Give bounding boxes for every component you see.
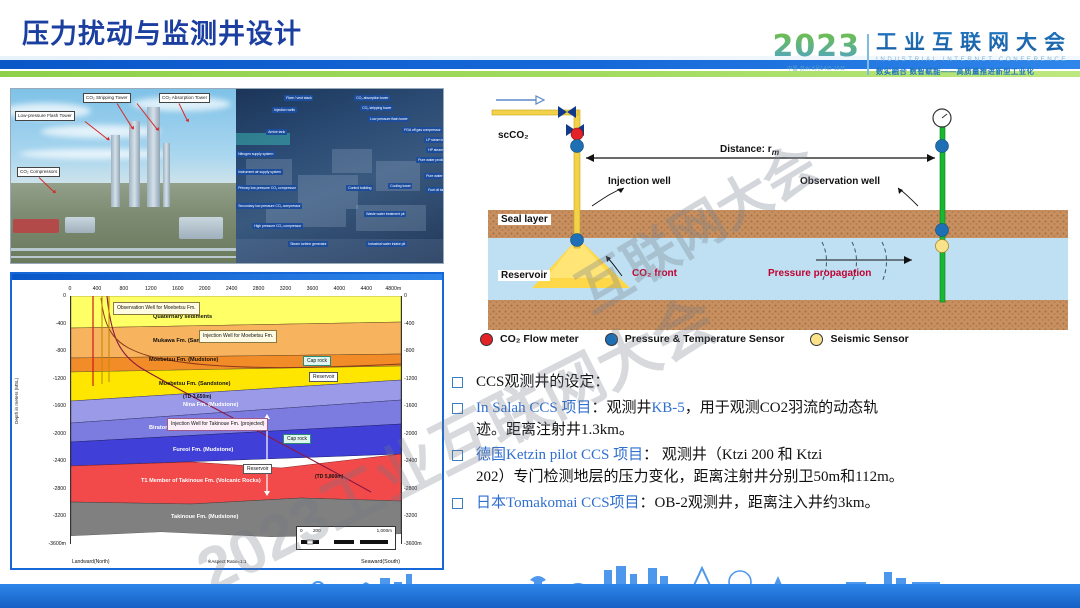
aerial-label-flash-tower: Low pressure flash tower [368, 116, 409, 122]
co2-injection-schematic: scCO₂ Distance: rm Injection well Observ… [480, 88, 1076, 350]
aerial-label-flare-stack: Flare / vent stack [284, 95, 313, 101]
logo-divider [867, 34, 869, 75]
geo-x-tick: 2000 [199, 286, 211, 292]
photo-label-flash-tower: Low-pressure Flash Tower [15, 111, 75, 121]
geo-x-tick: 3600 [307, 286, 319, 292]
aerial-label-cooling-tower: Cooling tower [388, 183, 412, 189]
schematic-label-injection-well: Injection well [608, 176, 671, 187]
geo-x-tick: 4800m [385, 286, 401, 292]
bullet-square-icon [452, 403, 463, 414]
geo-layer-label-nina: Nina Fm. (Mudstone) [183, 402, 238, 408]
logo-chinese-name: 工业互联网大会 [876, 32, 1072, 53]
schematic-svg [480, 88, 1076, 350]
geo-y-tick-right: -400 [404, 321, 438, 327]
geo-x-tick: 2400 [226, 286, 238, 292]
geo-y-tick: -2000 [34, 431, 66, 437]
geo-callout-observation-well: Observation Well for Moebetsu Fm. [113, 302, 200, 315]
geo-y-tick-right: -800 [404, 348, 438, 354]
geo-y-tick-right: -2800 [404, 486, 438, 492]
geo-y-tick: -400 [34, 321, 66, 327]
bullet-line: CCS观测井的设定： [476, 372, 609, 394]
geo-y-axis-label: Depth in meters (MSL) [14, 378, 19, 424]
bullet-segment: In Salah CCS 项目 [476, 400, 591, 416]
scalebar-mid: 200 [313, 528, 321, 533]
aerial-label-fuel-oil-tank: Fuel oil tank [426, 187, 443, 193]
distance-subscript: m [772, 147, 779, 157]
aerial-label-pure-water-tank: Pure water tank [424, 173, 443, 179]
geo-td-5800: (TD 5,800m) [315, 474, 343, 480]
geology-cross-section-chart: 0400800120016002000240028003200360040004… [10, 272, 444, 570]
geo-callout-injection-well-moebetsu: Injection Well for Moebetsu Fm. [199, 330, 277, 343]
geo-scalebar: 0 200 1,000m [296, 526, 396, 550]
schematic-label-seal-layer: Seal layer [498, 214, 551, 225]
geo-reservoir-upper: Reservoir [309, 372, 338, 382]
bullet-segment: ：观测井 [591, 400, 651, 416]
logo-year: 2023 [773, 32, 861, 62]
bullet-text: 日本Tomakomai CCS项目：OB-2观测井，距离注入井约3km。 [476, 493, 880, 515]
footer-skyline [0, 564, 1080, 608]
logo-year-subtitle: 中国·苏州 8月14日-15日 [787, 65, 845, 72]
bullet-segment: KB-5 [651, 400, 684, 416]
geo-y-tick-right: -1200 [404, 376, 438, 382]
aerial-label-fga-compressor: FGA off gas compressor [402, 127, 442, 133]
scalebar-ticks [298, 537, 394, 547]
slide-root: 压力扰动与监测井设计 2023 中国·苏州 8月14日-15日 工业互联网大会 … [0, 0, 1080, 608]
bullet-segment: CCS观测井的设定： [476, 374, 609, 390]
aerial-label-instrument-air: Instrument air supply system [236, 169, 282, 175]
geo-x-tick: 1600 [172, 286, 184, 292]
aerial-label-waste-water-pit: Waste water treatment pit [364, 211, 406, 217]
photo-label-compressors: CO₂ Compressors [17, 167, 60, 177]
geo-y-tick-right: -3600m [404, 541, 438, 547]
scalebar-start: 0 [300, 528, 303, 533]
geo-x-tick: 1200 [145, 286, 157, 292]
geo-y-tick: -3200 [34, 513, 66, 519]
bullet-list: CCS观测井的设定：In Salah CCS 项目：观测井KB-5，用于观测CO… [452, 372, 1072, 519]
aerial-label-lp-steam-boiler: LP steam boiler [424, 137, 443, 143]
schematic-label-distance: Distance: rm [720, 144, 779, 157]
aerial-label-steam-turbine: Steam turbine generator [288, 241, 328, 247]
geo-caprock-lower: Cap rock [283, 434, 311, 444]
geo-y-tick: -800 [34, 348, 66, 354]
geo-y-tick: 0 [34, 293, 66, 299]
logo-name-block: 工业互联网大会 INDUSTRIAL INTERNET CONFERENCE 数… [876, 32, 1072, 77]
geo-layer-label-takinoue: Takinoue Fm. (Mudstone) [171, 514, 238, 520]
geo-y-tick: -3600m [34, 541, 66, 547]
geo-y-tick: -1600 [34, 403, 66, 409]
bullet-square-icon [452, 498, 463, 509]
photo-label-stripping-tower: CO₂ Stripping Tower [83, 93, 131, 103]
geo-x-tick: 2800 [253, 286, 265, 292]
geo-x-tick: 4000 [334, 286, 346, 292]
legend-label-seismic-sensor: Seismic Sensor [830, 333, 908, 345]
geo-layer-label-moebetsu-sand: Moebetsu Fm. (Sandstone) [159, 381, 230, 387]
distance-text: Distance: r [720, 144, 772, 155]
bullet-item-tomakomai: 日本Tomakomai CCS项目：OB-2观测井，距离注入井约3km。 [452, 493, 1072, 515]
schematic-label-co2-front: CO₂ front [632, 268, 677, 279]
geo-layer-label-t1-volcanic: T1 Member of Takinoue Fm. (Volcanic Rock… [141, 478, 261, 484]
aerial-label-injection-wells: Injection wells [272, 107, 296, 113]
aerial-label-water-intake-pit: Industrial water intake pit [366, 241, 406, 247]
geo-plot-area: Quaternary sediments Mukawa Fm. (Sandsto… [70, 296, 402, 544]
legend-label-flow-meter: CO₂ Flow meter [500, 333, 579, 345]
geo-layer-label-fureoi: Fureoi Fm. (Mudstone) [173, 447, 233, 453]
schematic-label-scco2: scCO₂ [498, 130, 529, 141]
aerial-label-pure-water-prod: Pure water production system [416, 157, 443, 163]
schematic-legend: CO₂ Flow meter Pressure & Temperature Se… [480, 328, 1076, 350]
aerial-label-amine-tank: Amine tank [266, 129, 286, 135]
bullet-text: 德国Ketzin pilot CCS 项目： 观测井（Ktzi 200 和 Kt… [476, 445, 904, 489]
legend-dot-blue [605, 333, 618, 346]
bullet-square-icon [452, 450, 463, 461]
aerial-label-primary-lp-comp: Primary low pressure CO₂ compressor [236, 185, 297, 191]
geo-x-tick: 0 [69, 286, 72, 292]
geo-y-tick: -2800 [34, 486, 66, 492]
geo-y-tick-right: -3200 [404, 513, 438, 519]
legend-item-flow-meter: CO₂ Flow meter [480, 333, 579, 346]
geo-caprock-upper: Cap rock [303, 356, 331, 366]
geo-callout-injection-well-takinoue: Injection Well for Takinoue Fm. (project… [167, 418, 268, 431]
logo-tagline: 数实融合 数智赋能——高质量推进新型工业化 [876, 66, 1072, 77]
geo-top-rule [12, 274, 442, 280]
conference-logo: 2023 中国·苏州 8月14日-15日 工业互联网大会 INDUSTRIAL … [773, 32, 1073, 77]
aerial-label-absorption-tower: CO₂ absorption tower [354, 95, 390, 101]
geo-reservoir-lower: Reservoir [243, 464, 272, 474]
schematic-label-reservoir: Reservoir [498, 270, 550, 281]
bullet-segment: ：OB-2观测井，距离注入井约3km。 [640, 495, 880, 511]
aerial-label-stripping-tower: CO₂ stripping tower [360, 105, 392, 111]
bullet-segment: ，用于观测CO2羽流的动态轨 [685, 400, 878, 416]
geo-x-tick: 400 [93, 286, 102, 292]
geo-y-tick-right: -1600 [404, 403, 438, 409]
bullet-line: 202）专门检测地层的压力变化，距离注射井分别卫50m和112m。 [476, 467, 904, 489]
bullet-square-icon [452, 377, 463, 388]
aerial-label-secondary-lp-comp: Secondary low pressure CO₂ compressor [236, 203, 302, 209]
bullet-line: 日本Tomakomai CCS项目：OB-2观测井，距离注入井约3km。 [476, 493, 880, 515]
bullet-text: CCS观测井的设定： [476, 372, 609, 394]
geo-layer-label-moebetsu-mud: Moebetsu Fm. (Mudstone) [149, 357, 218, 363]
schematic-label-pressure-propagation: Pressure propagation [768, 268, 871, 279]
bullet-segment: 202）专门检测地层的压力变化，距离注射井分别卫50m和112m。 [476, 469, 904, 485]
legend-dot-red [480, 333, 493, 346]
page-title: 压力扰动与监测井设计 [22, 12, 302, 51]
bullet-item-in-salah: In Salah CCS 项目：观测井KB-5，用于观测CO2羽流的动态轨迹。距… [452, 398, 1072, 442]
legend-label-pt-sensor: Pressure & Temperature Sensor [625, 333, 785, 345]
geo-y-tick-right: 0 [404, 293, 438, 299]
bullet-segment: 德国Ketzin pilot CCS 项目 [476, 447, 643, 463]
geo-y-tick-right: -2000 [404, 431, 438, 437]
bullet-item-ccs-setting: CCS观测井的设定： [452, 372, 1072, 394]
geo-x-tick: 3200 [280, 286, 292, 292]
legend-item-pt-sensor: Pressure & Temperature Sensor [605, 333, 785, 346]
bullet-item-ketzin: 德国Ketzin pilot CCS 项目： 观测井（Ktzi 200 和 Kt… [452, 445, 1072, 489]
legend-item-seismic-sensor: Seismic Sensor [810, 333, 908, 346]
bullet-segment: 迹。距离注射井1.3km。 [476, 422, 634, 438]
bullet-line: 德国Ketzin pilot CCS 项目： 观测井（Ktzi 200 和 Kt… [476, 445, 904, 467]
plant-photo: CO₂ Stripping Tower CO₂ Absorption Tower… [11, 89, 236, 263]
geo-td-3650: (TD 3,650m) [183, 394, 211, 400]
aerial-label-hp-compressor: High pressure CO₂ compressor [252, 223, 302, 229]
geo-layer-label-quaternary: Quaternary sediments [153, 314, 212, 320]
schematic-label-observation-well: Observation well [800, 176, 880, 187]
aerial-photo: Flare / vent stack CO₂ absorption tower … [236, 89, 443, 263]
logo-year-block: 2023 中国·苏州 8月14日-15日 [773, 32, 868, 72]
logo-english-name: INDUSTRIAL INTERNET CONFERENCE [876, 56, 1072, 63]
scalebar-end: 1,000m [377, 528, 392, 533]
geo-y-tick: -2400 [34, 458, 66, 464]
aerial-label-control-building: Control building [346, 185, 373, 191]
geo-x-tick: 4400 [361, 286, 373, 292]
aerial-label-nitrogen-supply: Nitrogen supply system [236, 151, 274, 157]
legend-dot-yellow [810, 333, 823, 346]
aerial-label-hp-steam-boiler: HP steam boiler [426, 147, 443, 153]
geo-x-tick: 800 [120, 286, 129, 292]
geo-y-tick: -1200 [34, 376, 66, 382]
bullet-segment: 日本Tomakomai CCS项目 [476, 495, 640, 511]
geo-y-tick-right: -2400 [404, 458, 438, 464]
photo-collage: CO₂ Stripping Tower CO₂ Absorption Tower… [10, 88, 444, 264]
footer-gradient-bar [0, 584, 1080, 608]
bullet-text: In Salah CCS 项目：观测井KB-5，用于观测CO2羽流的动态轨迹。距… [476, 398, 878, 442]
bullet-segment: ： 观测井（Ktzi 200 和 Ktzi [643, 447, 822, 463]
bullet-line: In Salah CCS 项目：观测井KB-5，用于观测CO2羽流的动态轨 [476, 398, 878, 420]
photo-label-absorption-tower: CO₂ Absorption Tower [159, 93, 210, 103]
bullet-line: 迹。距离注射井1.3km。 [476, 420, 878, 442]
